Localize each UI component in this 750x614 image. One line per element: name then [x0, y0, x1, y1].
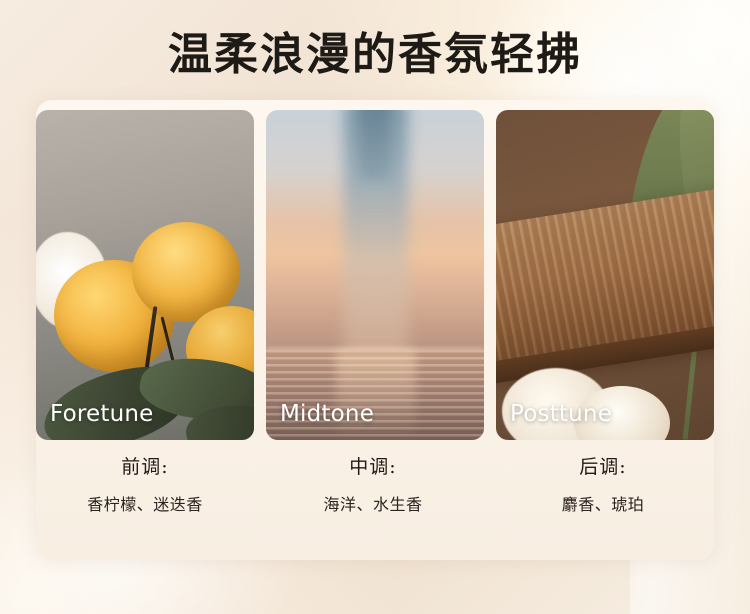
caption-midtone: 中调: 海洋、水生香: [264, 452, 482, 515]
note-label-midtone: Midtone: [280, 401, 374, 427]
fragrance-note-captions: 前调: 香柠檬、迷迭香 中调: 海洋、水生香 后调: 麝香、琥珀: [36, 452, 714, 515]
note-image-posttune[interactable]: Posttune: [496, 110, 714, 440]
caption-title-midtone: 中调:: [264, 452, 482, 479]
page-title: 温柔浪漫的香氛轻拂: [0, 18, 750, 82]
caption-note-posttune: 麝香、琥珀: [494, 491, 712, 515]
caption-title-foretune: 前调:: [36, 452, 254, 479]
caption-note-foretune: 香柠檬、迷迭香: [36, 491, 254, 515]
note-image-foretune[interactable]: Foretune: [36, 110, 254, 440]
note-label-foretune: Foretune: [50, 401, 154, 427]
caption-posttune: 后调: 麝香、琥珀: [494, 452, 712, 515]
caption-title-posttune: 后调:: [494, 452, 712, 479]
promo-page: 温柔浪漫的香氛轻拂 Foretune Midtone: [0, 0, 750, 614]
bottle-neck-shape: [360, 110, 390, 180]
caption-note-midtone: 海洋、水生香: [264, 491, 482, 515]
note-label-posttune: Posttune: [510, 401, 612, 427]
note-image-midtone[interactable]: Midtone: [266, 110, 484, 440]
fragrance-note-tiles: Foretune Midtone Posttune: [36, 110, 714, 440]
caption-foretune: 前调: 香柠檬、迷迭香: [36, 452, 254, 515]
